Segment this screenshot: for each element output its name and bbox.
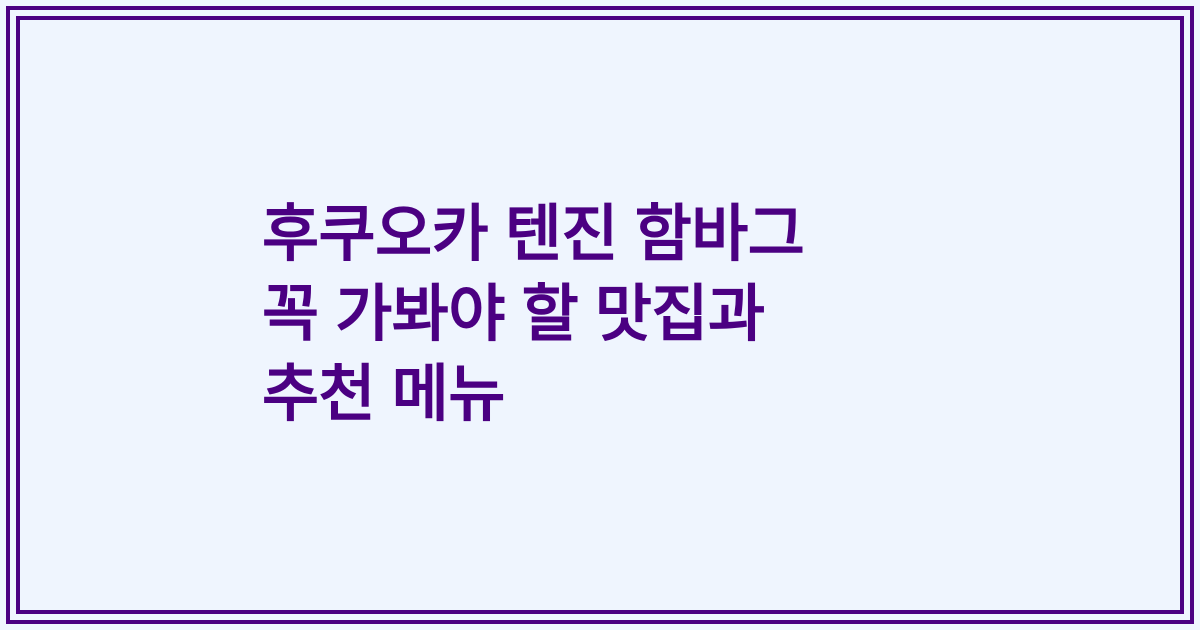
title-line-2: 꼭 가봐야 할 맛집과 [262,275,765,355]
title-line-1: 후쿠오카 텐진 함바그 [262,195,804,275]
title-block: 후쿠오카 텐진 함바그 꼭 가봐야 할 맛집과 추천 메뉴 [262,0,982,630]
thumbnail-canvas: 후쿠오카 텐진 함바그 꼭 가봐야 할 맛집과 추천 메뉴 [0,0,1200,630]
title-line-3: 추천 메뉴 [262,355,505,435]
